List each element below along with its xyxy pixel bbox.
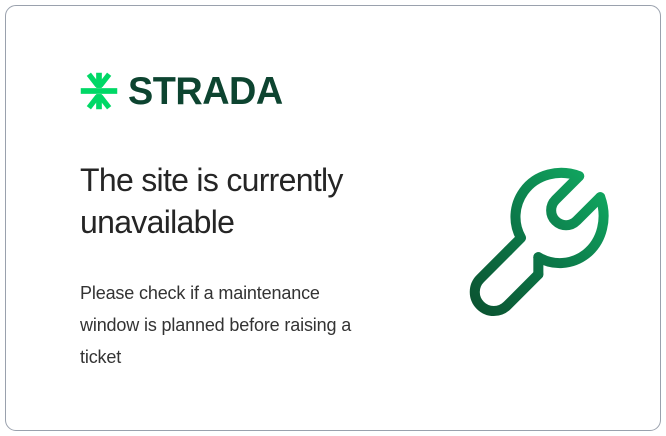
brand-wordmark: STRADA — [128, 72, 283, 111]
page-root: STRADA The site is currently unavailable… — [0, 0, 666, 436]
brand-lockup: STRADA — [80, 68, 430, 114]
page-title: The site is currently unavailable — [80, 160, 400, 243]
wrench-illustration — [458, 158, 620, 320]
page-description: Please check if a maintenance window is … — [80, 277, 380, 373]
strada-asterisk-icon — [80, 72, 118, 110]
content-column: STRADA The site is currently unavailable… — [80, 68, 430, 373]
status-card: STRADA The site is currently unavailable… — [5, 5, 661, 431]
wrench-icon — [458, 158, 620, 320]
